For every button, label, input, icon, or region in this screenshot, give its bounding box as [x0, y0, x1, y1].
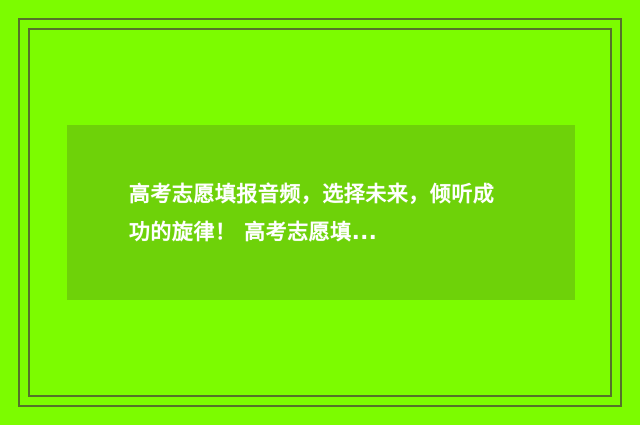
caption-text: 高考志愿填报音频，选择未来，倾听成功的旋律！ 高考志愿填...	[67, 175, 575, 251]
caption-panel: 高考志愿填报音频，选择未来，倾听成功的旋律！ 高考志愿填...	[67, 125, 575, 300]
image-canvas: 高考志愿填报音频，选择未来，倾听成功的旋律！ 高考志愿填...	[0, 0, 640, 425]
